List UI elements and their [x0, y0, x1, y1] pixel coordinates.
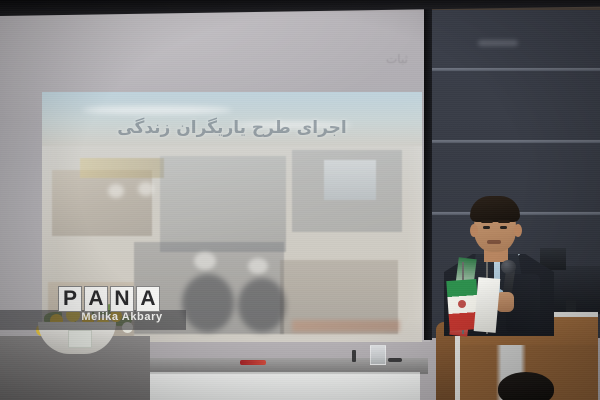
slide-figure-2: [238, 278, 286, 332]
microphone-icon: [501, 260, 516, 274]
speaker-ear-right: [514, 224, 522, 237]
logo-letter-n: N: [110, 286, 134, 312]
slide-cloud-1: [82, 106, 232, 114]
panel-smudge: [478, 40, 518, 46]
panel-groove-1: [432, 68, 600, 71]
slide-photo-participants: [160, 156, 286, 252]
slide-photo-shelf-top: [80, 158, 164, 178]
panel-groove-2: [432, 140, 600, 143]
speaker-brow-right: [498, 220, 510, 223]
speaker-brow-left: [481, 220, 493, 223]
slide-figure-1: [182, 274, 234, 332]
audience-head-front: [498, 372, 554, 400]
glass-cup: [370, 345, 386, 365]
ledge-pen-2: [388, 358, 402, 362]
white-desk-flag: [474, 277, 501, 333]
photograph-scene: ثبات اجرای طرح یاریگران زندگی: [0, 0, 600, 400]
speaker-hair: [470, 196, 520, 222]
wall-faint-text: ثبات: [386, 52, 408, 66]
red-marker: [240, 360, 266, 365]
ledge-pen: [352, 350, 356, 362]
logo-letter-a2: A: [136, 286, 160, 312]
iranian-flag-emblem-icon: [458, 300, 466, 308]
speaker-mouth: [487, 240, 501, 244]
slide-mask-face-3: [108, 184, 124, 198]
slide-photo-workshop: [52, 170, 152, 236]
logo-letter-a1: A: [84, 286, 108, 312]
speaker-eye-left: [483, 226, 490, 229]
panel-dark-edge: [424, 8, 432, 340]
slide-warm-strip: [292, 320, 400, 332]
slide-title: اجرای طرح یاریگران زندگی: [42, 118, 422, 138]
vase-label: [68, 330, 92, 348]
speaker-ear-left: [470, 224, 478, 237]
slide-photo-classroom-screen: [324, 160, 376, 200]
watermark: P A N A Melika Akbary: [0, 286, 186, 330]
speaker-eye-right: [500, 226, 507, 229]
logo-letter-p: P: [58, 286, 82, 312]
pana-logo: P A N A: [58, 286, 160, 312]
photographer-credit: Melika Akbary: [62, 311, 182, 323]
slide-mask-face-1: [194, 252, 216, 270]
slide-mask-face-2: [248, 258, 268, 274]
slide-mask-face-4: [138, 182, 154, 196]
speaker-figure: [440, 196, 556, 336]
